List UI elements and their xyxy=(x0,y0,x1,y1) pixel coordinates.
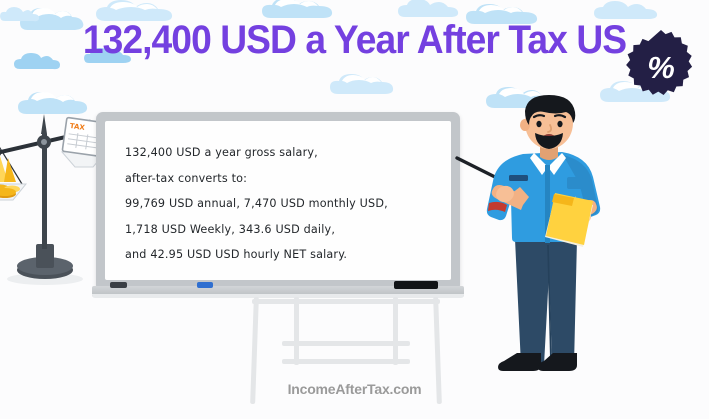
percent-symbol: % xyxy=(624,29,698,103)
eraser-dark-icon xyxy=(110,282,127,288)
board-line: after-tax converts to: xyxy=(125,166,451,192)
cloud-icon xyxy=(398,0,474,20)
site-watermark: IncomeAfterTax.com xyxy=(0,381,709,397)
page-title: 132,400 USD a Year After Tax US xyxy=(25,18,684,63)
whiteboard-tray xyxy=(92,286,464,297)
teacher-illustration xyxy=(455,95,705,385)
whiteboard: 132,400 USD a year gross salary, after-t… xyxy=(96,112,460,302)
board-line: 99,769 USD annual, 7,470 USD monthly USD… xyxy=(125,191,451,217)
cloud-icon xyxy=(330,72,410,98)
board-line: 1,718 USD Weekly, 343.6 USD daily, xyxy=(125,217,451,243)
eraser-black-icon xyxy=(394,281,438,289)
whiteboard-frame: 132,400 USD a year gross salary, after-t… xyxy=(96,112,460,292)
whiteboard-surface: 132,400 USD a year gross salary, after-t… xyxy=(105,121,451,280)
percent-badge: % xyxy=(624,29,698,103)
board-line: 132,400 USD a year gross salary, xyxy=(125,140,451,166)
poster-canvas: 132,400 USD a Year After Tax US % xyxy=(0,0,709,419)
board-line: and 42.95 USD USD hourly NET salary. xyxy=(125,242,451,268)
marker-blue-icon xyxy=(197,282,213,288)
